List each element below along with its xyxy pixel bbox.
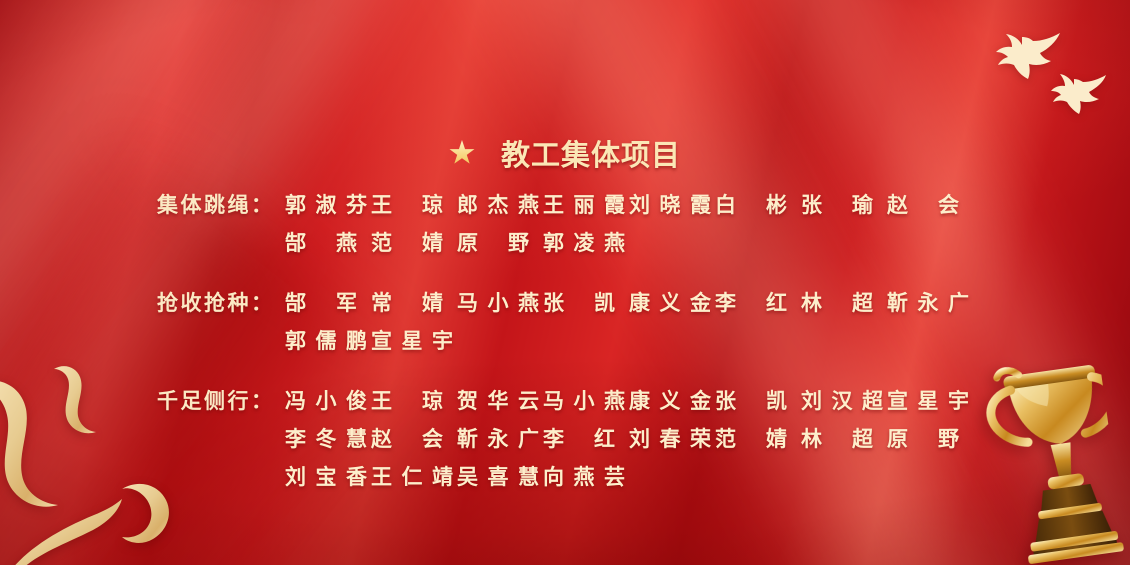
participant-name: 靳永广 — [457, 420, 543, 458]
event-roster-list: 集体跳绳：郭淑芬王琼郎杰燕王丽霞刘晓霞白彬张瑜赵会郜燕范婧原野郭凌燕抢收抢种：郜… — [157, 186, 1017, 496]
participant-name-list: 冯小俊王琼贺华云马小燕康义金张凯刘汉超宣星宇李冬慧赵会靳永广李红刘春荣范婧林超原… — [285, 382, 1017, 496]
participant-name: 王琼 — [371, 186, 457, 224]
participant-name: 刘宝香 — [285, 458, 371, 496]
participant-name: 郭儒鹏 — [285, 322, 371, 360]
participant-name: 范婧 — [715, 420, 801, 458]
participant-name: 康义金 — [629, 284, 715, 322]
participant-name: 王琼 — [371, 382, 457, 420]
participant-name: 张凯 — [543, 284, 629, 322]
participant-name: 向燕芸 — [543, 458, 629, 496]
participant-name: 范婧 — [371, 224, 457, 262]
participant-name: 原野 — [887, 420, 973, 458]
participant-name: 吴喜慧 — [457, 458, 543, 496]
participant-name: 靳永广 — [887, 284, 973, 322]
participant-name: 刘晓霞 — [629, 186, 715, 224]
section-heading-container: 教工集体项目 — [0, 132, 1130, 174]
star-icon — [449, 140, 475, 166]
trophy-icon — [967, 348, 1126, 565]
participant-name: 李冬慧 — [285, 420, 371, 458]
participant-name: 马小燕 — [543, 382, 629, 420]
participant-name: 郭凌燕 — [543, 224, 629, 262]
participant-name: 原野 — [457, 224, 543, 262]
participant-name-list: 郜军常婧马小燕张凯康义金李红林超靳永广郭儒鹏宣星宇 — [285, 284, 1017, 360]
participant-name: 王仁靖 — [371, 458, 457, 496]
participant-name: 赵会 — [371, 420, 457, 458]
participant-name: 康义金 — [629, 382, 715, 420]
page-title-container: 公共管理学院49届校运会光荣榜 — [0, 40, 1130, 104]
participant-name: 王丽霞 — [543, 186, 629, 224]
participant-name: 郜军 — [285, 284, 371, 322]
event-row: 千足侧行：冯小俊王琼贺华云马小燕康义金张凯刘汉超宣星宇李冬慧赵会靳永广李红刘春荣… — [157, 382, 1017, 496]
participant-name: 赵会 — [887, 186, 973, 224]
participant-name: 郭淑芬 — [285, 186, 371, 224]
participant-name: 李红 — [715, 284, 801, 322]
section-heading: 教工集体项目 — [501, 132, 681, 174]
participant-name-list: 郭淑芬王琼郎杰燕王丽霞刘晓霞白彬张瑜赵会郜燕范婧原野郭凌燕 — [285, 186, 1017, 262]
event-label: 集体跳绳： — [157, 186, 285, 224]
participant-name: 宣星宇 — [371, 322, 457, 360]
participant-name: 林超 — [801, 420, 887, 458]
participant-name: 马小燕 — [457, 284, 543, 322]
event-label: 抢收抢种： — [157, 284, 285, 322]
event-row: 集体跳绳：郭淑芬王琼郎杰燕王丽霞刘晓霞白彬张瑜赵会郜燕范婧原野郭凌燕 — [157, 186, 1017, 262]
ribbon-decoration — [0, 341, 202, 565]
participant-name: 郜燕 — [285, 224, 371, 262]
participant-name: 贺华云 — [457, 382, 543, 420]
participant-name: 刘汉超 — [801, 382, 887, 420]
participant-name: 宣星宇 — [887, 382, 973, 420]
page-title: 公共管理学院49届校运会光荣榜 — [147, 40, 983, 104]
participant-name: 郎杰燕 — [457, 186, 543, 224]
participant-name: 常婧 — [371, 284, 457, 322]
event-row: 抢收抢种：郜军常婧马小燕张凯康义金李红林超靳永广郭儒鹏宣星宇 — [157, 284, 1017, 360]
participant-name: 林超 — [801, 284, 887, 322]
participant-name: 张凯 — [715, 382, 801, 420]
participant-name: 白彬 — [715, 186, 801, 224]
honor-roll-poster: 公共管理学院49届校运会光荣榜 教工集体项目 集体跳绳：郭淑芬王琼郎杰燕王丽霞刘… — [0, 0, 1130, 565]
participant-name: 冯小俊 — [285, 382, 371, 420]
participant-name: 张瑜 — [801, 186, 887, 224]
participant-name: 刘春荣 — [629, 420, 715, 458]
participant-name: 李红 — [543, 420, 629, 458]
